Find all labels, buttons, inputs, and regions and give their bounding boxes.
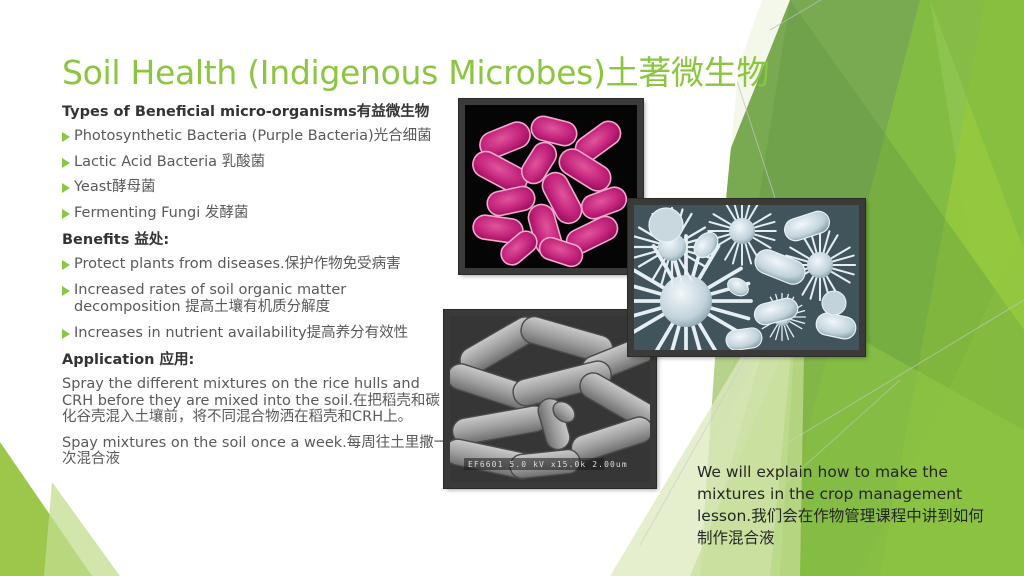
bullet-protect-plants: Protect plants from diseases.保护作物免受病害	[62, 256, 452, 274]
bullet-organic-matter-decomposition: Increased rates of soil organic matter d…	[62, 282, 452, 317]
section-heading-types: Types of Beneficial micro-organisms有益微生物	[62, 103, 452, 122]
bullet-lactic-acid-bacteria: Lactic Acid Bacteria 乳酸菌	[62, 154, 452, 172]
triangle-bullet-icon	[62, 183, 70, 193]
section-heading-application: Application 应用:	[62, 351, 452, 370]
bullet-label: Increases in nutrient availability提高养分有效…	[74, 325, 408, 341]
slide-title: Soil Health (Indigenous Microbes)土著微生物	[62, 52, 822, 94]
triangle-bullet-icon	[62, 286, 70, 296]
slide: Soil Health (Indigenous Microbes)土著微生物 T…	[0, 0, 1024, 576]
bullet-label: Increased rates of soil organic matter d…	[74, 282, 346, 316]
triangle-bullet-icon	[62, 158, 70, 168]
caption-text: We will explain how to make the mixtures…	[697, 461, 997, 549]
photo-spiky-microbes[interactable]	[628, 199, 865, 356]
bullet-label: Photosynthetic Bacteria (Purple Bacteria…	[74, 128, 432, 144]
bullet-label: Yeast酵母菌	[74, 179, 155, 195]
bullet-yeast: Yeast酵母菌	[62, 179, 452, 197]
triangle-bullet-icon	[62, 132, 70, 142]
deco-hairline-top	[770, 0, 1024, 30]
bullet-label: Fermenting Fungi 发酵菌	[74, 205, 248, 221]
photo-bacilli[interactable]: EF6601 5.0 kV x15.0k 2.00um	[444, 310, 656, 488]
paragraph-spray-mixtures: Spray the different mixtures on the rice…	[62, 376, 452, 426]
triangle-bullet-icon	[62, 209, 70, 219]
bullet-nutrient-availability: Increases in nutrient availability提高养分有效…	[62, 325, 452, 343]
section-heading-benefits: Benefits 益处:	[62, 231, 452, 250]
photo-pink-bacteria-graphic	[465, 105, 637, 268]
photo-pink-bacteria[interactable]	[459, 99, 643, 274]
bullet-photosynthetic-bacteria: Photosynthetic Bacteria (Purple Bacteria…	[62, 128, 452, 146]
content-text-column: Types of Beneficial micro-organisms有益微生物…	[62, 103, 452, 477]
deco-shape-bottom-left-top2	[44, 482, 120, 576]
deco-shape-triangle-b	[930, 0, 1024, 250]
bullet-fermenting-fungi: Fermenting Fungi 发酵菌	[62, 205, 452, 223]
bullet-label: Lactic Acid Bacteria 乳酸菌	[74, 154, 265, 170]
paragraph-weekly-application: Spay mixtures on the soil once a week.每周…	[62, 435, 452, 468]
bullet-label: Protect plants from diseases.保护作物免受病害	[74, 256, 401, 272]
triangle-bullet-icon	[62, 260, 70, 270]
photo-spiky-microbes-graphic	[634, 205, 859, 350]
triangle-bullet-icon	[62, 329, 70, 339]
photo-bacilli-graphic: EF6601 5.0 kV x15.0k 2.00um	[450, 316, 650, 482]
photo-bacilli-scalebar-text: EF6601 5.0 kV x15.0k 2.00um	[468, 460, 628, 469]
deco-shape-bottom-left-2	[60, 470, 138, 576]
